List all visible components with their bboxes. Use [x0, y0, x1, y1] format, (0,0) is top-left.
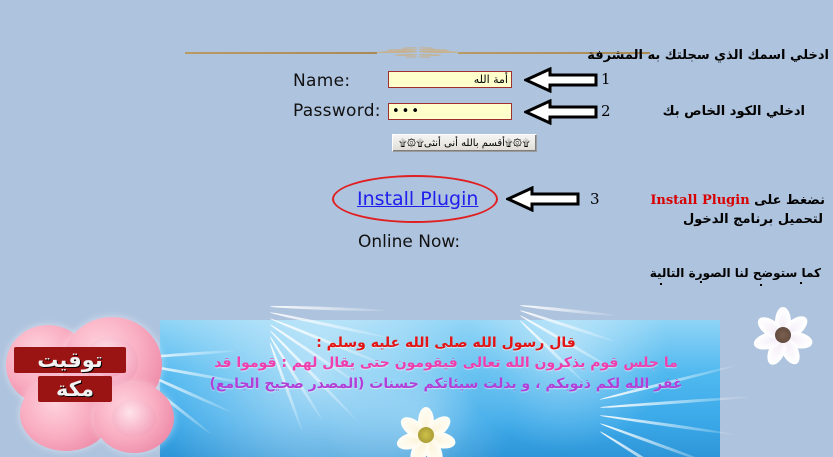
- callout-arrow-2-icon: [524, 99, 598, 125]
- annotation-password-instruction: ادخلي الكود الخاص بك: [663, 104, 805, 119]
- annotation-next-image: كما ستوضح لنا الصورة التالية: [650, 266, 821, 280]
- mecca-time-logo: توقيت مكة: [14, 347, 126, 405]
- logo-line-2: مكة: [38, 376, 112, 402]
- hadith-line-1: قال رسول الله صلى الله عليه وسلم :: [176, 333, 716, 353]
- artifact-speck: [760, 284, 762, 286]
- annotation-install-highlight: Install Plugin: [650, 193, 749, 208]
- callout-arrow-3-icon: [506, 186, 580, 212]
- password-input[interactable]: •••: [388, 103, 512, 120]
- login-form: Name: أمة الله Password: ••• ۩۞۩أقسم بال…: [0, 0, 833, 300]
- name-input[interactable]: أمة الله: [388, 71, 512, 88]
- password-label: Password:: [293, 101, 381, 121]
- callout-number-1: 1: [601, 70, 611, 88]
- callout-number-2: 2: [601, 102, 611, 120]
- oath-button[interactable]: ۩۞۩أقسم بالله أنى أنثى۩۞۩: [392, 134, 537, 152]
- annotation-install-text: نضغط على: [754, 193, 825, 208]
- annotation-install-instruction-line2: لتحميل برنامج الدخول: [683, 212, 823, 227]
- annotation-install-instruction: نضغط على Install Plugin: [650, 193, 825, 208]
- logo-line-1: توقيت: [14, 347, 126, 373]
- annotation-name-instruction: ادخلي اسمك الذي سجلتك به المشرفة: [587, 48, 829, 63]
- hadith-line-3: غفر الله لكم ذنوبكم ، و بدلت سيئاتكم حسن…: [176, 374, 716, 394]
- white-flower-icon: [755, 307, 811, 363]
- hadith-line-2: ما جلس قوم يذكرون الله تعالى فيقومون حتى…: [176, 353, 716, 373]
- hadith-text: قال رسول الله صلى الله عليه وسلم : ما جل…: [176, 333, 716, 394]
- artifact-speck: [800, 282, 802, 284]
- online-now-label: Online Now:: [358, 232, 460, 252]
- white-flower-icon: [398, 407, 454, 457]
- artifact-speck: [700, 281, 702, 283]
- artifact-speck: [660, 283, 662, 285]
- callout-arrow-1-icon: [524, 67, 598, 93]
- install-plugin-link[interactable]: Install Plugin: [357, 188, 478, 210]
- screenshot-root: Name: أمة الله Password: ••• ۩۞۩أقسم بال…: [0, 0, 833, 457]
- callout-number-3: 3: [590, 190, 600, 208]
- name-label: Name:: [293, 71, 350, 91]
- bottom-banner: توقيت مكة قال رسول الله صلى الله ع: [0, 303, 833, 457]
